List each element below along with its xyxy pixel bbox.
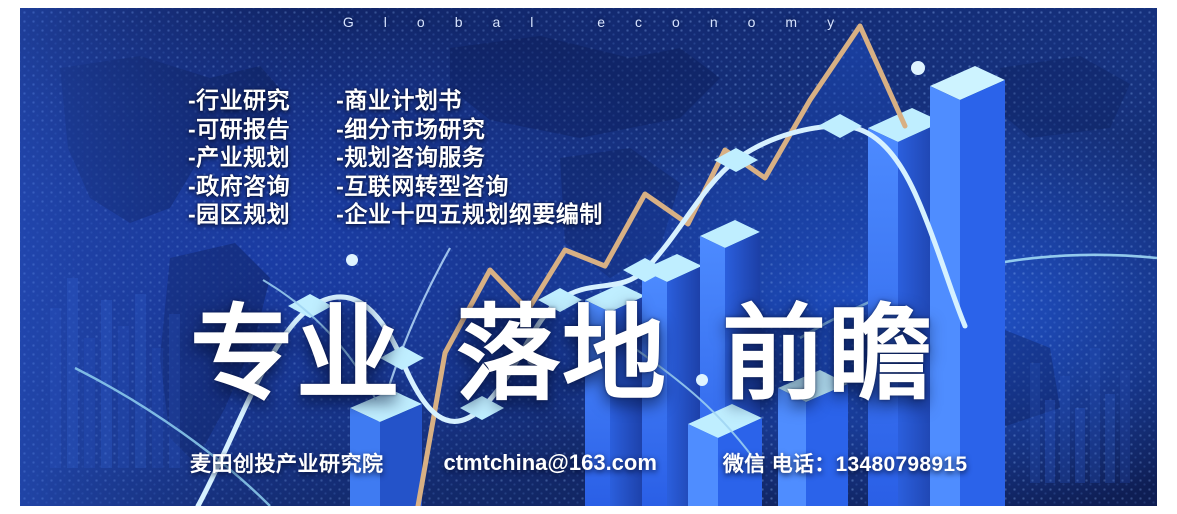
service-item: -可研报告 <box>188 115 290 144</box>
headline-word: 落地 <box>456 303 668 407</box>
headline-word: 前瞻 <box>722 303 934 407</box>
organization-name: 麦田创投产业研究院 <box>190 448 384 478</box>
email-address[interactable]: ctmtchina@163.com <box>444 450 657 476</box>
footer-contact-row: 麦田创投产业研究院 ctmtchina@163.com 微信 电话：134807… <box>190 448 967 478</box>
service-item: -企业十四五规划纲要编制 <box>336 200 603 229</box>
services-list: -行业研究 -可研报告 -产业规划 -政府咨询 -园区规划 -商业计划书 -细分… <box>188 86 603 229</box>
services-right-column: -商业计划书 -细分市场研究 -规划咨询服务 -互联网转型咨询 -企业十四五规划… <box>336 86 603 229</box>
service-item: -互联网转型咨询 <box>336 172 603 201</box>
service-item: -政府咨询 <box>188 172 290 201</box>
headline: 专业 落地 前瞻 <box>190 303 934 407</box>
banner-stage: Global economy -行业研究 -可研报告 -产业规划 -政府咨询 -… <box>0 0 1177 514</box>
headline-word: 专业 <box>190 303 402 407</box>
service-item: -产业规划 <box>188 143 290 172</box>
service-item: -行业研究 <box>188 86 290 115</box>
node-dot <box>346 254 358 266</box>
contact-phone: 微信 电话：13480798915 <box>723 448 967 478</box>
services-left-column: -行业研究 -可研报告 -产业规划 -政府咨询 -园区规划 <box>188 86 290 229</box>
service-item: -规划咨询服务 <box>336 143 603 172</box>
growth-chart-artwork <box>20 8 1157 506</box>
promo-banner: Global economy -行业研究 -可研报告 -产业规划 -政府咨询 -… <box>20 8 1157 506</box>
service-item: -细分市场研究 <box>336 115 603 144</box>
service-item: -商业计划书 <box>336 86 603 115</box>
service-item: -园区规划 <box>188 200 290 229</box>
node-dot <box>911 61 925 75</box>
bar-item <box>930 66 1005 506</box>
